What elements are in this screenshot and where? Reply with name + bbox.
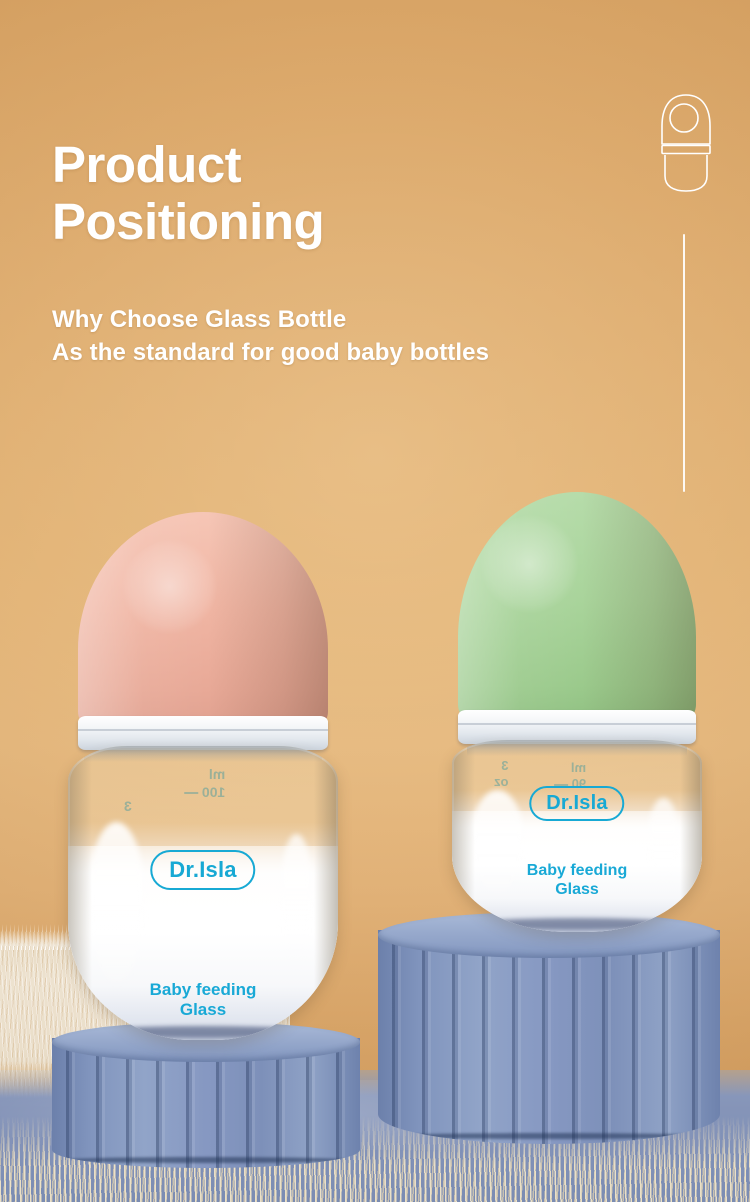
measure-unit-green: ml (571, 760, 586, 775)
product-tagline-green: Baby feeding Glass (527, 862, 627, 900)
vertical-divider (683, 234, 685, 492)
glass-green-highlight-right (647, 798, 680, 886)
glass-pink-edge-left (68, 746, 92, 1040)
page-title: Product Positioning (52, 136, 324, 250)
measure-unit-pink: ml (209, 766, 225, 782)
baby-bottle-outline-icon (656, 92, 716, 192)
measure-tick-pink (184, 792, 198, 794)
pedestal-right (378, 912, 720, 1144)
measurement-marks-green-alt: 3 oz (494, 758, 508, 791)
product-tagline-pink: Baby feeding Glass (150, 980, 257, 1020)
pedestal-left-base-edge (64, 1157, 347, 1163)
measurement-marks-pink: ml 100 (184, 766, 225, 801)
measure-value-pink: 100 (202, 784, 225, 800)
bottle-cap-pink (78, 512, 328, 734)
glass-pink-base-shadow (90, 1026, 317, 1038)
glass-green-highlight-left (470, 790, 525, 898)
glass-pink-highlight-right (279, 834, 314, 969)
cap-pink-highlight (116, 538, 244, 666)
glass-green-base-shadow (472, 918, 682, 930)
pedestal-right-ribs (378, 930, 720, 1144)
bottle-collar-pink (78, 716, 328, 750)
pedestal-right-body (378, 930, 720, 1144)
page-subtitle: Why Choose Glass Bottle As the standard … (52, 303, 489, 369)
subtitle-line-2: As the standard for good baby bottles (52, 336, 489, 369)
measure-unit-alt-green: oz (494, 774, 508, 789)
cap-green-highlight (474, 514, 606, 646)
pedestal-right-base-edge (392, 1133, 707, 1139)
glass-pink-edge-right (314, 746, 338, 1040)
product-pink-bottle[interactable]: ml 100 3 Dr.Isla Baby feeding Glass (62, 512, 344, 1040)
brand-logo-green: Dr.Isla (529, 786, 624, 821)
glass-green-edge-left (452, 740, 475, 932)
measurement-marks-pink-alt: 3 (124, 798, 132, 816)
bottle-cap-green (458, 492, 696, 728)
subtitle-line-1: Why Choose Glass Bottle (52, 303, 489, 336)
glass-green-edge-right (680, 740, 703, 932)
product-positioning-banner: Product Positioning Why Choose Glass Bot… (0, 0, 750, 1202)
pedestal-left (52, 1022, 360, 1168)
glass-green-neck-shine (467, 740, 687, 756)
product-green-bottle[interactable]: ml 90 3 oz Dr.Isla Baby feeding Glass (446, 492, 708, 932)
glass-pink-highlight-left (87, 822, 146, 987)
measure-value-alt-pink: 3 (124, 798, 132, 814)
brand-logo-pink: Dr.Isla (150, 850, 255, 890)
measure-value-alt-green: 3 (501, 758, 508, 773)
glass-pink-neck-shine (84, 746, 322, 762)
bottle-collar-green (458, 710, 696, 744)
